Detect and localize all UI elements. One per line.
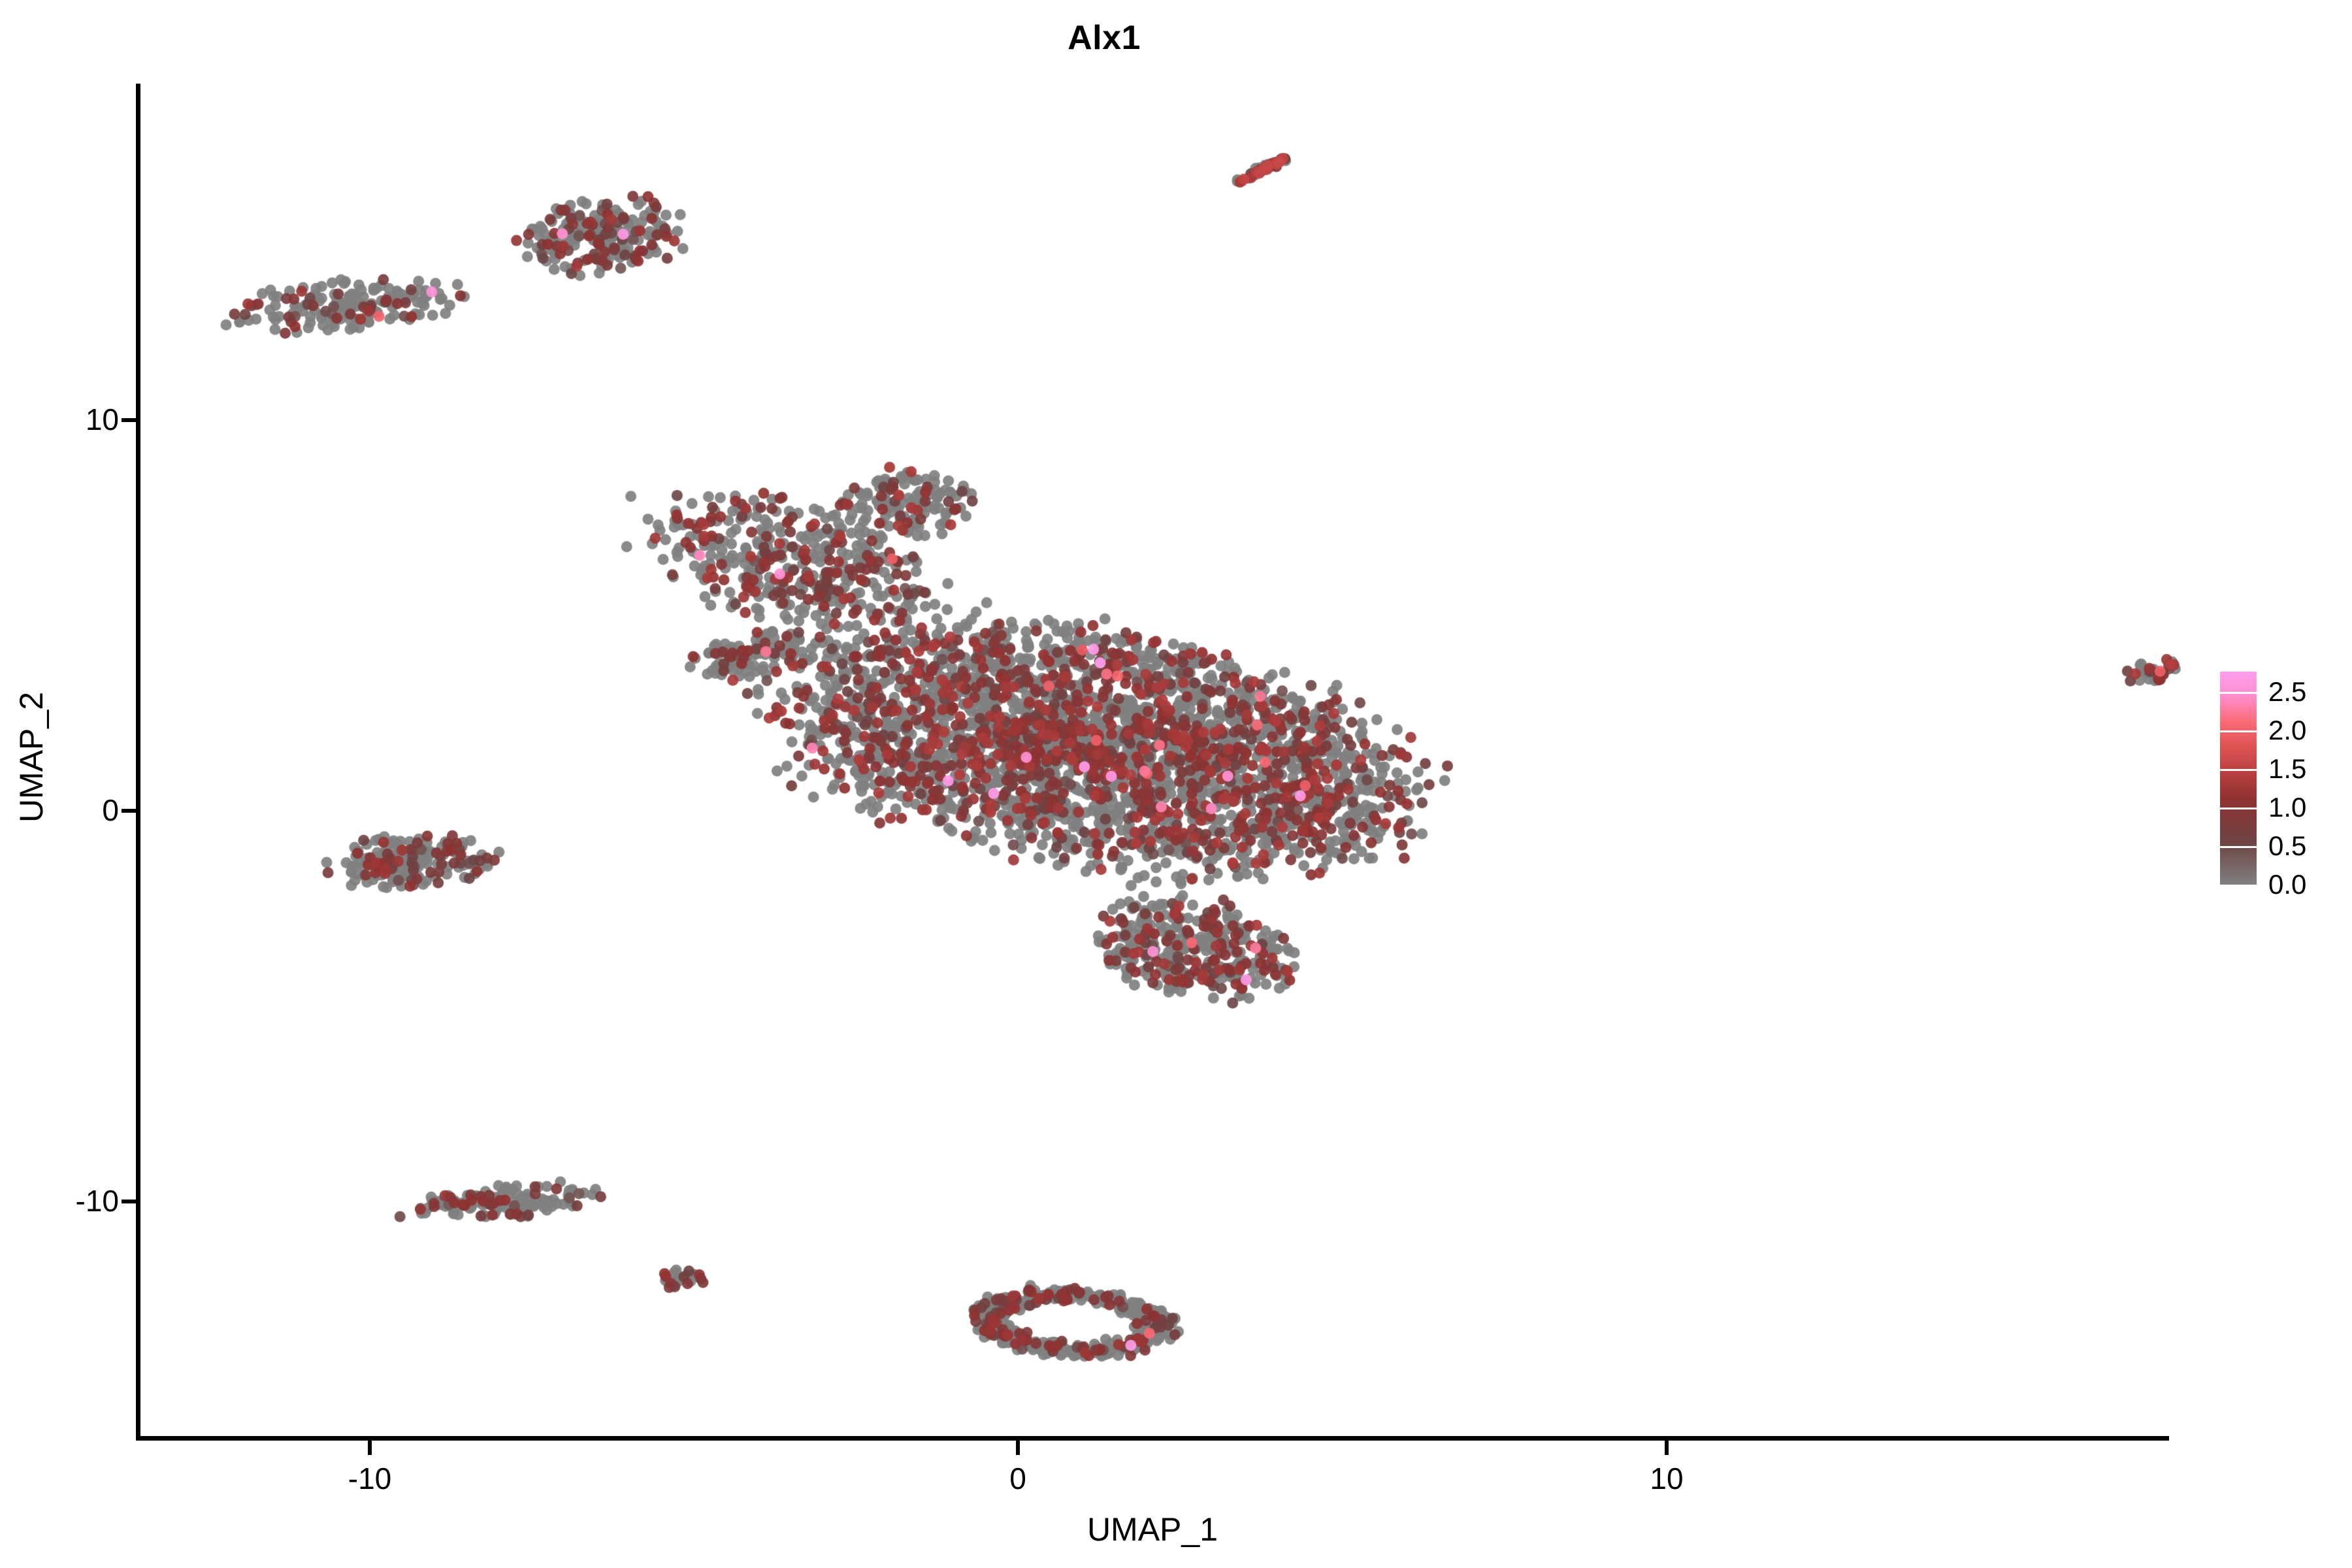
colorbar-label-1.5: 1.5	[2268, 753, 2306, 785]
x-axis-title: UMAP_1	[136, 1511, 2169, 1548]
y-ticklabel-10: 10	[86, 402, 119, 437]
y-ticklabel-0: 0	[102, 792, 119, 828]
colorbar-label-2.5: 2.5	[2268, 676, 2306, 708]
x-tick-neg10	[368, 1441, 372, 1455]
colorbar-tick-0.0	[2220, 883, 2257, 885]
colorbar-label-1.0: 1.0	[2268, 792, 2306, 823]
colorbar-tick-1.5	[2220, 769, 2257, 771]
colorbar-tick-2.5	[2220, 692, 2257, 694]
page-title: Alx1	[0, 18, 2208, 57]
colorbar-label-0.5: 0.5	[2268, 830, 2306, 862]
scatter-plot-canvas	[0, 0, 2352, 1568]
y-axis-title: UMAP_2	[12, 561, 50, 953]
colorbar-label-2.0: 2.0	[2268, 715, 2306, 746]
colorbar-tick-0.5	[2220, 846, 2257, 848]
colorbar-tick-1.0	[2220, 808, 2257, 809]
color-legend: 2.5 2.0 1.5 1.0 0.5 0.0	[2220, 672, 2344, 887]
y-tick-neg10	[122, 1200, 136, 1203]
x-ticklabel-neg10: -10	[348, 1461, 391, 1496]
x-tick-0	[1016, 1441, 1020, 1455]
feature-plot-root: Alx1 10 0 -10 -10 0 10 UMAP_1 UMAP_2 2.5…	[0, 0, 2352, 1568]
colorbar-label-0.0: 0.0	[2268, 869, 2306, 900]
x-ticklabel-0: 0	[1009, 1461, 1026, 1496]
y-ticklabel-neg10: -10	[76, 1183, 119, 1218]
y-tick-10	[122, 418, 136, 422]
x-ticklabel-10: 10	[1650, 1461, 1683, 1496]
colorbar-tick-2.5-edge	[2220, 672, 2257, 674]
x-axis-line	[136, 1436, 2169, 1441]
y-tick-0	[122, 809, 136, 813]
x-tick-10	[1665, 1441, 1669, 1455]
colorbar-tick-2.0	[2220, 730, 2257, 732]
y-axis-line	[136, 84, 140, 1441]
colorbar-gradient	[2220, 672, 2257, 885]
